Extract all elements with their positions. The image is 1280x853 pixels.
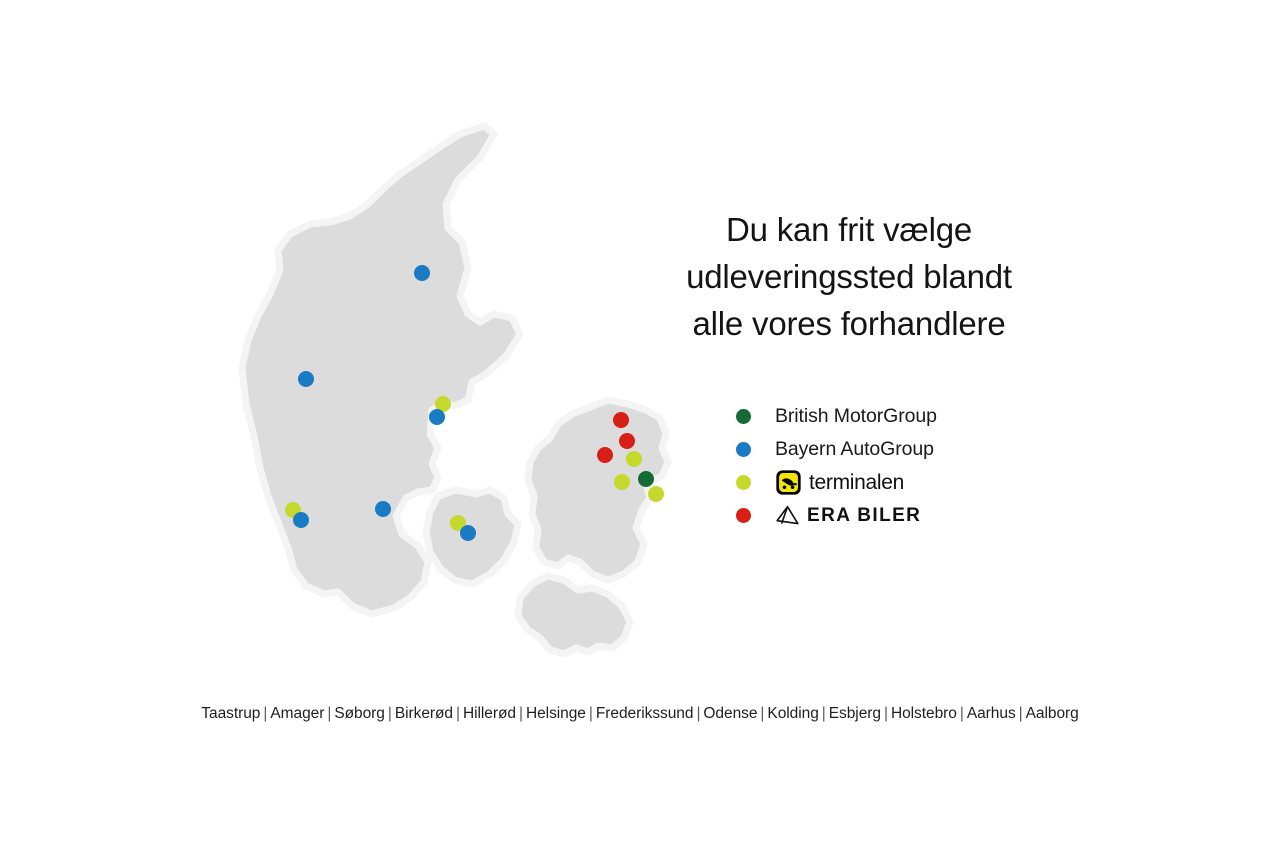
city-item[interactable]: Taastrup (201, 705, 260, 722)
city-item[interactable]: Amager (270, 705, 324, 722)
denmark-map (232, 118, 702, 678)
terminalen-logo-icon (775, 469, 802, 496)
legend-item-british-motorgroup[interactable]: British MotorGroup (736, 400, 1056, 433)
city-separator: | (260, 705, 270, 722)
city-separator: | (957, 705, 967, 722)
map-marker-taastrup-terminalen[interactable] (614, 474, 630, 490)
map-marker-birkerod-terminalen[interactable] (626, 451, 642, 467)
region-zealand (528, 400, 668, 580)
city-separator: | (1016, 705, 1026, 722)
legend-item-bayern-autogroup[interactable]: Bayern AutoGroup (736, 433, 1056, 466)
city-separator: | (453, 705, 463, 722)
map-marker-holstebro-bayern[interactable] (298, 371, 314, 387)
city-item[interactable]: Odense (703, 705, 757, 722)
legend-label-british-motorgroup: British MotorGroup (775, 405, 937, 428)
city-separator: | (819, 705, 829, 722)
city-item[interactable]: Kolding (767, 705, 818, 722)
map-marker-amager-terminalen[interactable] (648, 486, 664, 502)
city-separator: | (693, 705, 703, 722)
city-item[interactable]: Helsinge (526, 705, 586, 722)
terminalen-brand: terminalen (775, 469, 904, 496)
legend-dot-red (736, 508, 751, 523)
city-item[interactable]: Holstebro (891, 705, 957, 722)
city-item[interactable]: Frederikssund (596, 705, 694, 722)
denmark-map-svg (232, 118, 702, 678)
map-marker-frederikssund-era[interactable] (597, 447, 613, 463)
city-item[interactable]: Søborg (334, 705, 385, 722)
city-separator: | (881, 705, 891, 722)
city-separator: | (757, 705, 767, 722)
map-regions (242, 126, 668, 654)
region-lolland-falster (518, 576, 630, 654)
legend-label-terminalen: terminalen (809, 471, 904, 495)
legend-label-bayern-autogroup: Bayern AutoGroup (775, 438, 934, 461)
map-marker-odense-bayern[interactable] (460, 525, 476, 541)
city-item[interactable]: Aarhus (967, 705, 1016, 722)
headline-line-2: udleveringssted blandt (628, 253, 1070, 300)
legend-item-terminalen[interactable]: terminalen (736, 466, 1056, 499)
legend-dot-green (736, 409, 751, 424)
brand-legend: British MotorGroup Bayern AutoGroup term… (736, 400, 1056, 532)
city-separator: | (586, 705, 596, 722)
city-item[interactable]: Hillerød (463, 705, 516, 722)
map-marker-hillerod-era[interactable] (619, 433, 635, 449)
era-biler-logo-icon (775, 505, 800, 526)
city-separator: | (324, 705, 334, 722)
page-title: Du kan frit vælge udleveringssted blandt… (628, 206, 1070, 347)
map-marker-esbjerg-bayern[interactable] (293, 512, 309, 528)
city-separator: | (516, 705, 526, 722)
legend-item-era-biler[interactable]: ERA BILER (736, 499, 1056, 532)
map-marker-helsinge-era[interactable] (613, 412, 629, 428)
map-marker-aalborg-bayern[interactable] (414, 265, 430, 281)
era-biler-brand: ERA BILER (775, 505, 921, 527)
headline-line-1: Du kan frit vælge (628, 206, 1070, 253)
headline-line-3: alle vores forhandlere (628, 300, 1070, 347)
city-list: Taastrup|Amager|Søborg|Birkerød|Hillerød… (0, 705, 1280, 723)
city-item[interactable]: Aalborg (1026, 705, 1079, 722)
map-marker-soborg-british[interactable] (638, 471, 654, 487)
map-marker-kolding-bayern[interactable] (375, 501, 391, 517)
poster-canvas: Du kan frit vælge udleveringssted blandt… (0, 0, 1280, 853)
legend-label-era-biler: ERA BILER (807, 505, 921, 527)
legend-dot-blue (736, 442, 751, 457)
map-marker-aarhus-bayern[interactable] (429, 409, 445, 425)
city-item[interactable]: Birkerød (395, 705, 453, 722)
city-separator: | (385, 705, 395, 722)
legend-dot-lime (736, 475, 751, 490)
city-item[interactable]: Esbjerg (829, 705, 881, 722)
